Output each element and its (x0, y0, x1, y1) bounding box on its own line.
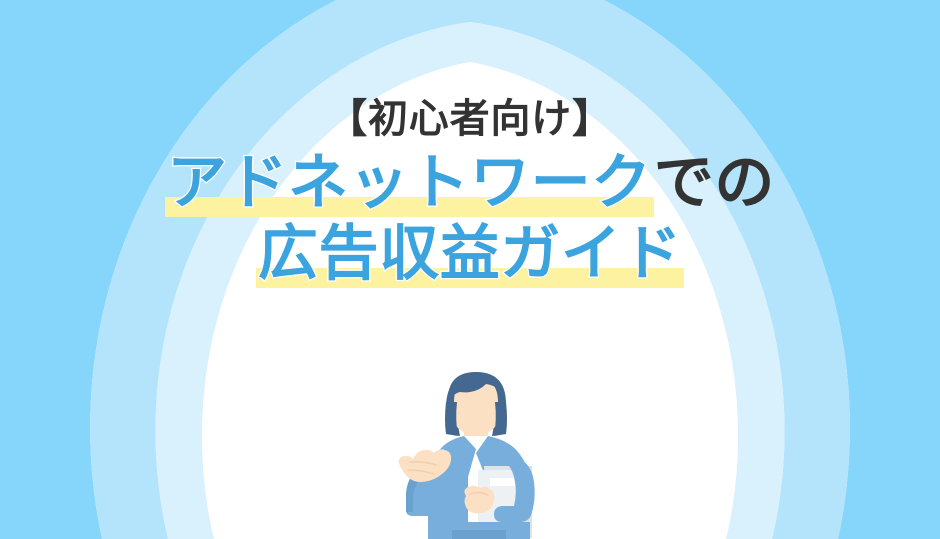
title-card-canvas: 【初心者向け】 アドネットワーク での 広告収益ガイド (0, 0, 940, 539)
hair-side-right-shape (494, 402, 507, 436)
title-line-1: アドネットワーク での (0, 148, 940, 219)
trousers-shape (452, 530, 506, 539)
hair-side-left-shape (445, 402, 458, 436)
title-line-1-plain-text: での (654, 149, 775, 216)
title-line-1-highlight: アドネットワーク (165, 148, 654, 219)
businesswoman-illustration (390, 362, 570, 539)
title-line-1-accent-text: アドネットワーク (167, 149, 652, 216)
papers-label-strip (490, 478, 516, 486)
title-line-2-accent-text: 広告収益ガイド (258, 220, 682, 287)
eyebrow-text: 【初心者向け】 (0, 96, 940, 142)
title-line-2: 広告収益ガイド (0, 219, 940, 290)
title-line-2-highlight: 広告収益ガイド (256, 219, 684, 290)
headline-block: 【初心者向け】 アドネットワーク での 広告収益ガイド (0, 96, 940, 290)
